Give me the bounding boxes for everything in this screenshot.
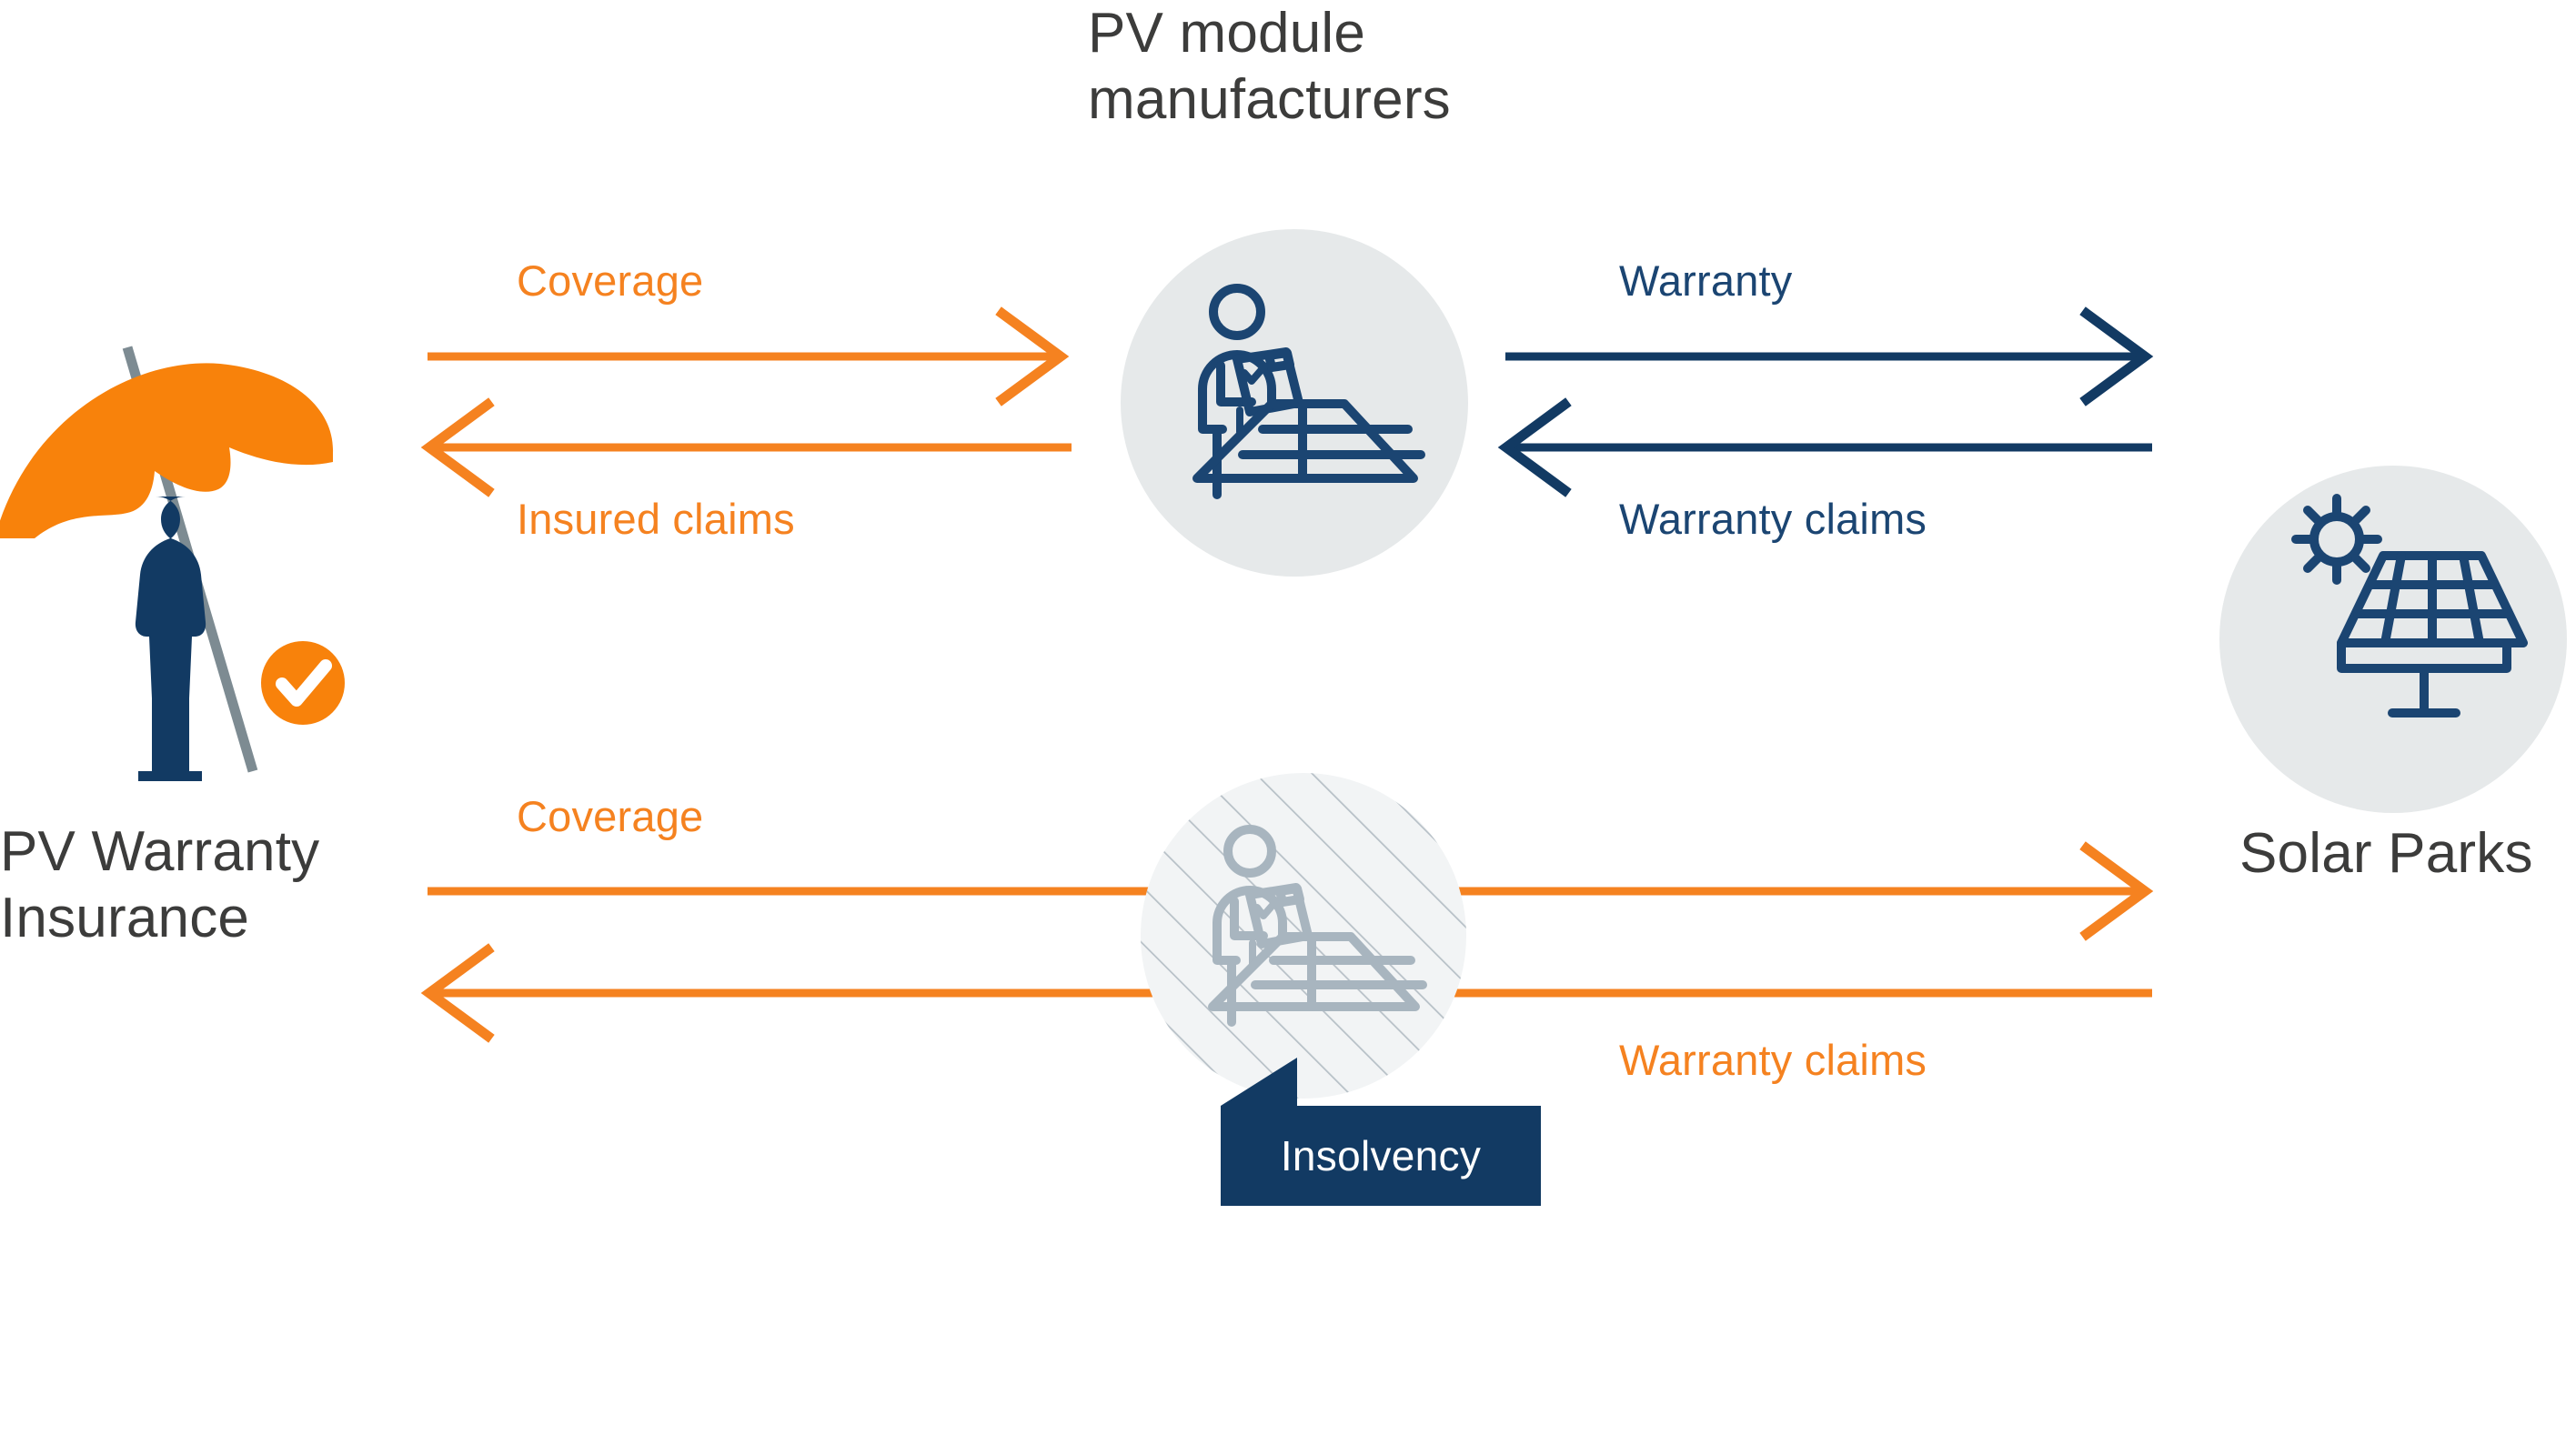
worker-solar-panel-icon-disabled: [1141, 773, 1466, 1099]
arrow-coverage-top: [428, 314, 1061, 399]
arrow-warranty-claims-top: [1506, 405, 2152, 490]
person-silhouette-icon: [136, 497, 206, 781]
arrow-warranty: [1505, 314, 2145, 399]
node-icon-pv-warranty-insurance: [0, 300, 373, 782]
arrow-insured-claims: [429, 405, 1072, 490]
diagram-canvas: PV module manufacturers PV Warranty Insu…: [0, 0, 2576, 1455]
node-label-pv-module-manufacturers: PV module manufacturers: [1088, 0, 1652, 133]
worker-solar-panel-icon: [1121, 229, 1468, 577]
insolvency-callout-pointer: [1221, 1058, 1297, 1106]
insolvency-callout-label: Insolvency: [1221, 1106, 1541, 1206]
flow-arrows-layer: [0, 0, 2576, 1455]
umbrella-person-check-icon: [0, 300, 373, 782]
solar-panel-sun-icon: [2219, 466, 2567, 813]
node-icon-pv-module-manufacturers: [1121, 229, 1468, 577]
flow-label-warranty-claims-top: Warranty claims: [1619, 496, 1927, 543]
flow-label-warranty-claims-bottom: Warranty claims: [1619, 1037, 1927, 1084]
node-icon-solar-parks: [2219, 466, 2567, 813]
flow-label-coverage-bottom: Coverage: [517, 793, 703, 840]
node-label-pv-warranty-insurance: PV Warranty Insurance: [0, 818, 473, 951]
flow-label-insured-claims: Insured claims: [517, 496, 795, 543]
flow-label-coverage-top: Coverage: [517, 257, 703, 305]
check-badge-icon: [261, 641, 345, 725]
flow-label-warranty: Warranty: [1619, 257, 1793, 305]
node-icon-pv-module-manufacturers-insolvent: [1141, 773, 1466, 1099]
node-label-solar-parks: Solar Parks: [2239, 820, 2576, 887]
